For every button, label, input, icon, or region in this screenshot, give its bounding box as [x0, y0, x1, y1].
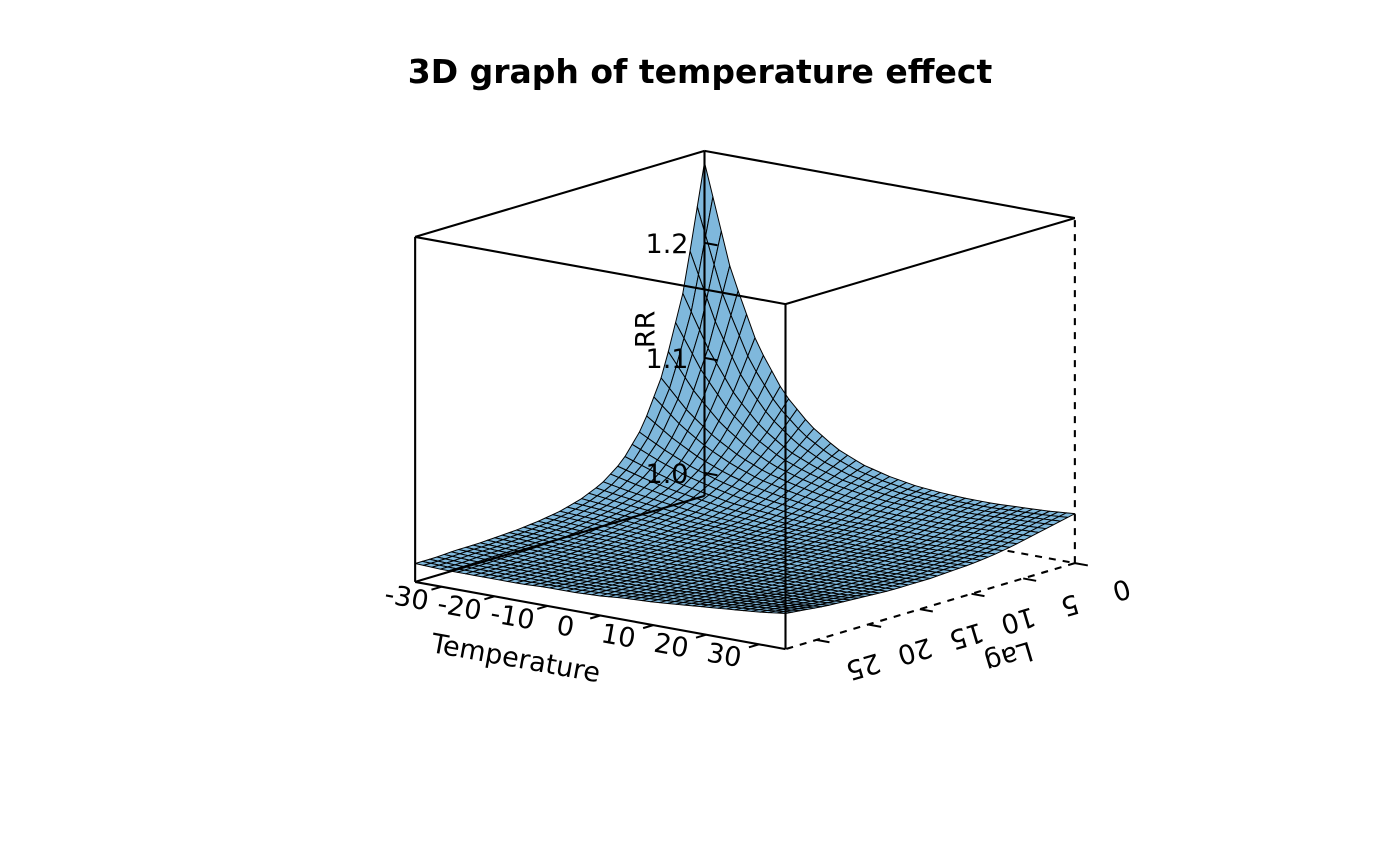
- x-tick-label: -30: [382, 579, 431, 617]
- x-tick-label: -10: [488, 598, 537, 636]
- x-tick-label: 20: [652, 628, 691, 665]
- y-tick-label: 15: [945, 616, 987, 656]
- x-tick-label: -20: [435, 589, 484, 627]
- surface-mesh: [415, 162, 1075, 613]
- y-tick-label: 10: [997, 600, 1039, 640]
- persp-3d-plot: 1.21.11.0RR3020100-10-20-30Temperature05…: [0, 0, 1400, 866]
- x-tick-label: 0: [554, 610, 576, 644]
- x-tick-label: 30: [704, 638, 743, 675]
- x-axis-title: Temperature: [428, 628, 603, 689]
- y-tick-label: 25: [842, 646, 884, 686]
- y-tick-label: 0: [1109, 572, 1134, 607]
- z-axis-title: RR: [631, 311, 662, 349]
- z-tick-label: 1.0: [646, 459, 689, 490]
- figure-canvas: 3D graph of temperature effect 1.21.11.0…: [0, 0, 1400, 866]
- y-axis-title: Lag: [981, 635, 1037, 679]
- y-tick-label: 20: [894, 631, 936, 671]
- y-tick-label: 5: [1057, 587, 1082, 622]
- x-tick-label: 10: [599, 618, 638, 655]
- z-tick-label: 1.2: [646, 229, 689, 260]
